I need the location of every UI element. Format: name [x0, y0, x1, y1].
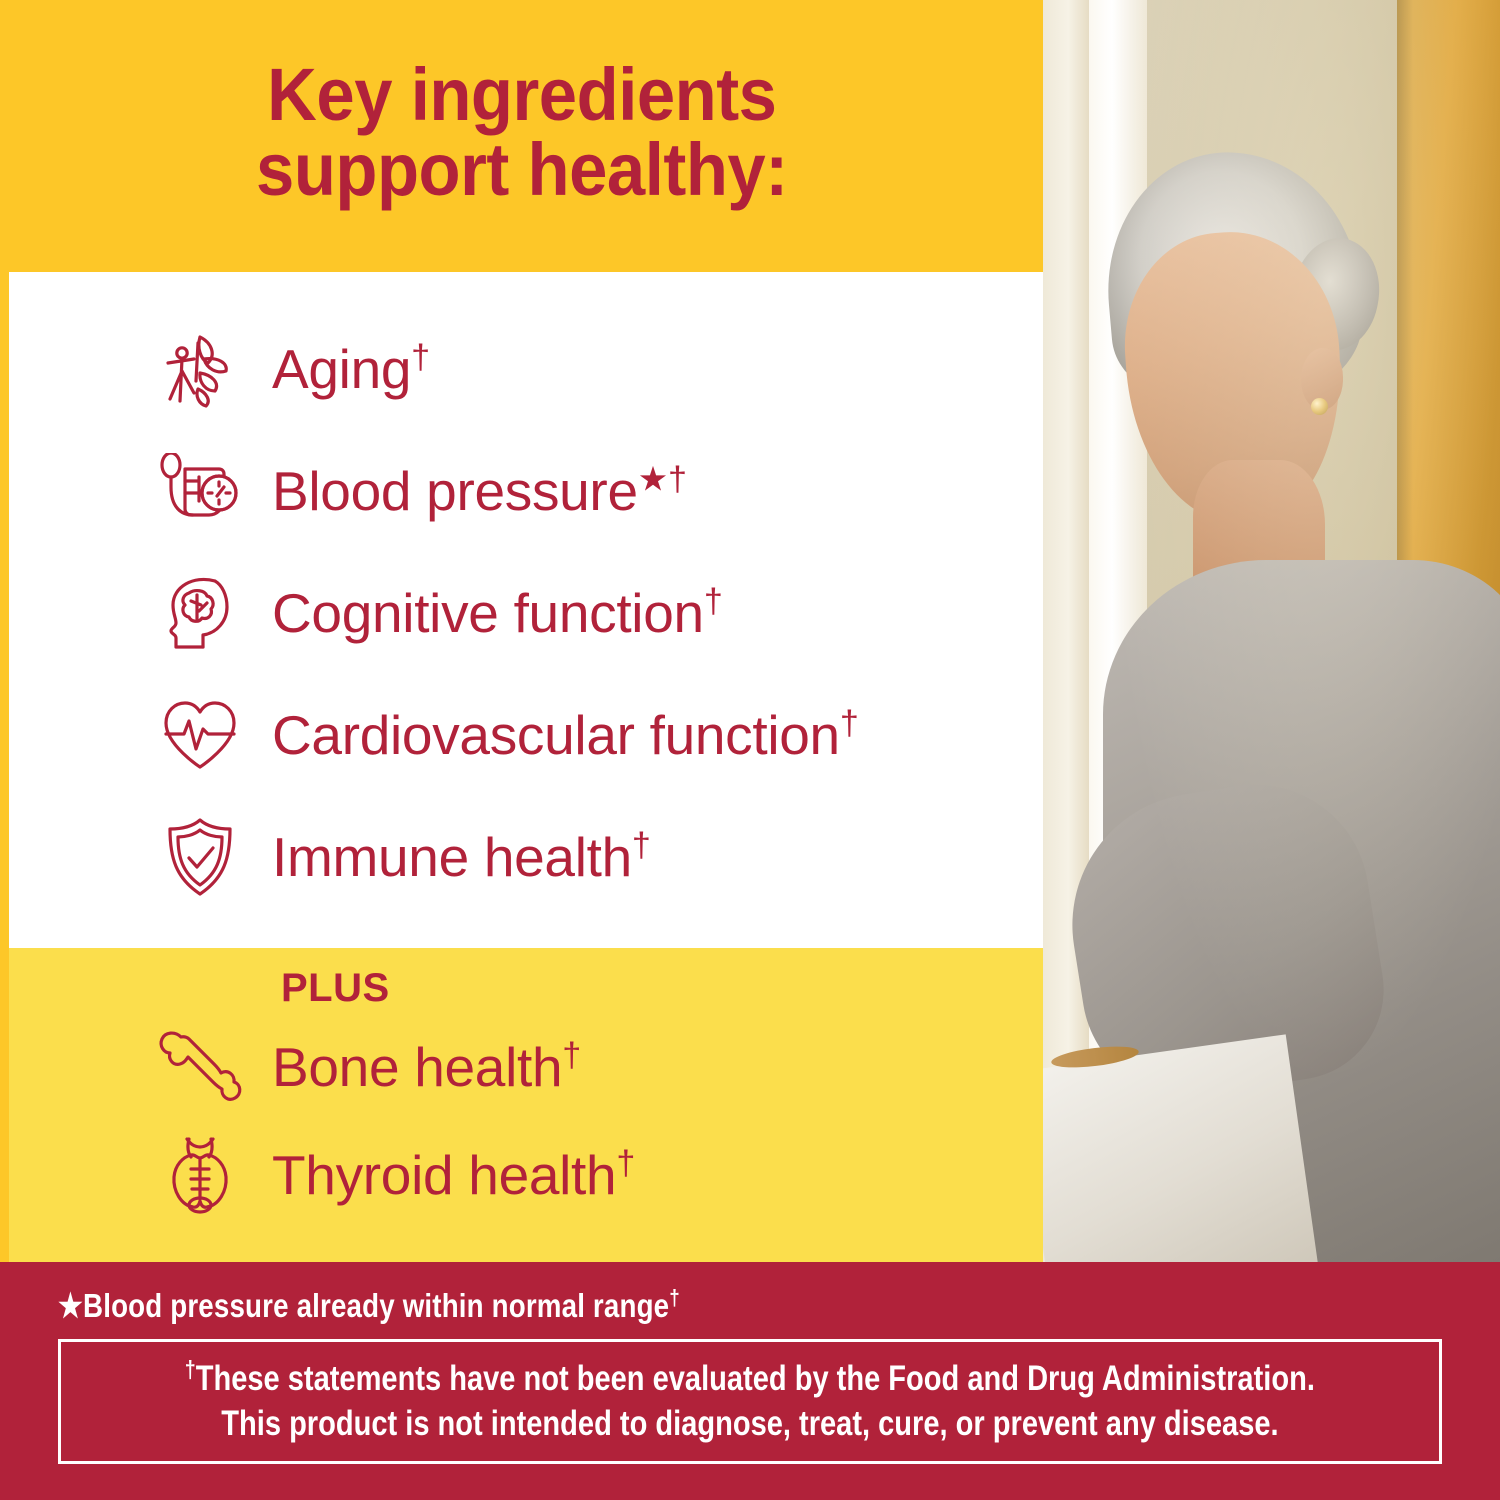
footnote-mark: † — [562, 1037, 581, 1075]
benefits-list: Aging† Blood pressure★† — [0, 272, 1043, 948]
footnote-mark: † — [840, 705, 859, 743]
list-item: Blood pressure★† — [9, 430, 1043, 552]
fda-disclaimer-box: †These statements have not been evaluate… — [58, 1339, 1442, 1464]
disclaimer-footer: ★Blood pressure already within normal ra… — [0, 1262, 1500, 1500]
title-line-1: Key ingredients — [267, 53, 776, 136]
thyroid-gland-icon — [154, 1132, 246, 1218]
footnote-mark: † — [185, 1357, 196, 1384]
shield-check-icon — [154, 814, 246, 900]
list-item: Thyroid health† — [9, 1121, 1043, 1229]
header-band: Key ingredients support healthy: — [0, 0, 1043, 272]
title-line-2: support healthy: — [256, 132, 788, 207]
footnote-mark: † — [704, 583, 723, 621]
list-item: Immune health† — [9, 796, 1043, 918]
footnote-mark: † — [632, 827, 651, 865]
plus-kicker-label: PLUS — [281, 966, 1043, 1011]
footnote-mark: † — [669, 1285, 680, 1310]
list-item: Bone health† — [9, 1013, 1043, 1121]
list-item: Cognitive function† — [9, 552, 1043, 674]
fda-disclaimer-line-1: †These statements have not been evaluate… — [185, 1357, 1315, 1401]
blood-pressure-cuff-icon — [154, 448, 246, 534]
page-title: Key ingredients support healthy: — [256, 57, 788, 216]
infographic-stage: Key ingredients support healthy: — [0, 0, 1500, 1262]
list-item-label: Cognitive function† — [272, 581, 722, 645]
photo-light-glow — [1043, 0, 1500, 1262]
footnote-mark: ★† — [638, 461, 687, 499]
list-item-label: Bone health† — [272, 1035, 581, 1099]
list-item-label: Aging† — [272, 337, 430, 401]
list-item: Aging† — [9, 308, 1043, 430]
list-item-label: Cardiovascular function† — [272, 703, 859, 767]
senior-woman-photo — [1043, 0, 1500, 1262]
content-column: Key ingredients support healthy: — [0, 0, 1043, 1262]
brain-head-icon — [154, 570, 246, 656]
bone-icon — [154, 1024, 246, 1110]
footnote-mark: † — [411, 339, 430, 377]
list-item-label: Thyroid health† — [272, 1143, 635, 1207]
footnote-mark: † — [616, 1145, 635, 1183]
star-footnote: ★Blood pressure already within normal ra… — [58, 1262, 1221, 1339]
fda-disclaimer-line-2: This product is not intended to diagnose… — [221, 1402, 1278, 1446]
heart-pulse-icon — [154, 692, 246, 778]
list-item-label: Immune health† — [272, 825, 651, 889]
list-item-label: Blood pressure★† — [272, 459, 687, 523]
plus-section: PLUS Bone health† — [0, 948, 1043, 1262]
list-item: Cardiovascular function† — [9, 674, 1043, 796]
vitality-person-leaf-icon — [154, 326, 246, 412]
